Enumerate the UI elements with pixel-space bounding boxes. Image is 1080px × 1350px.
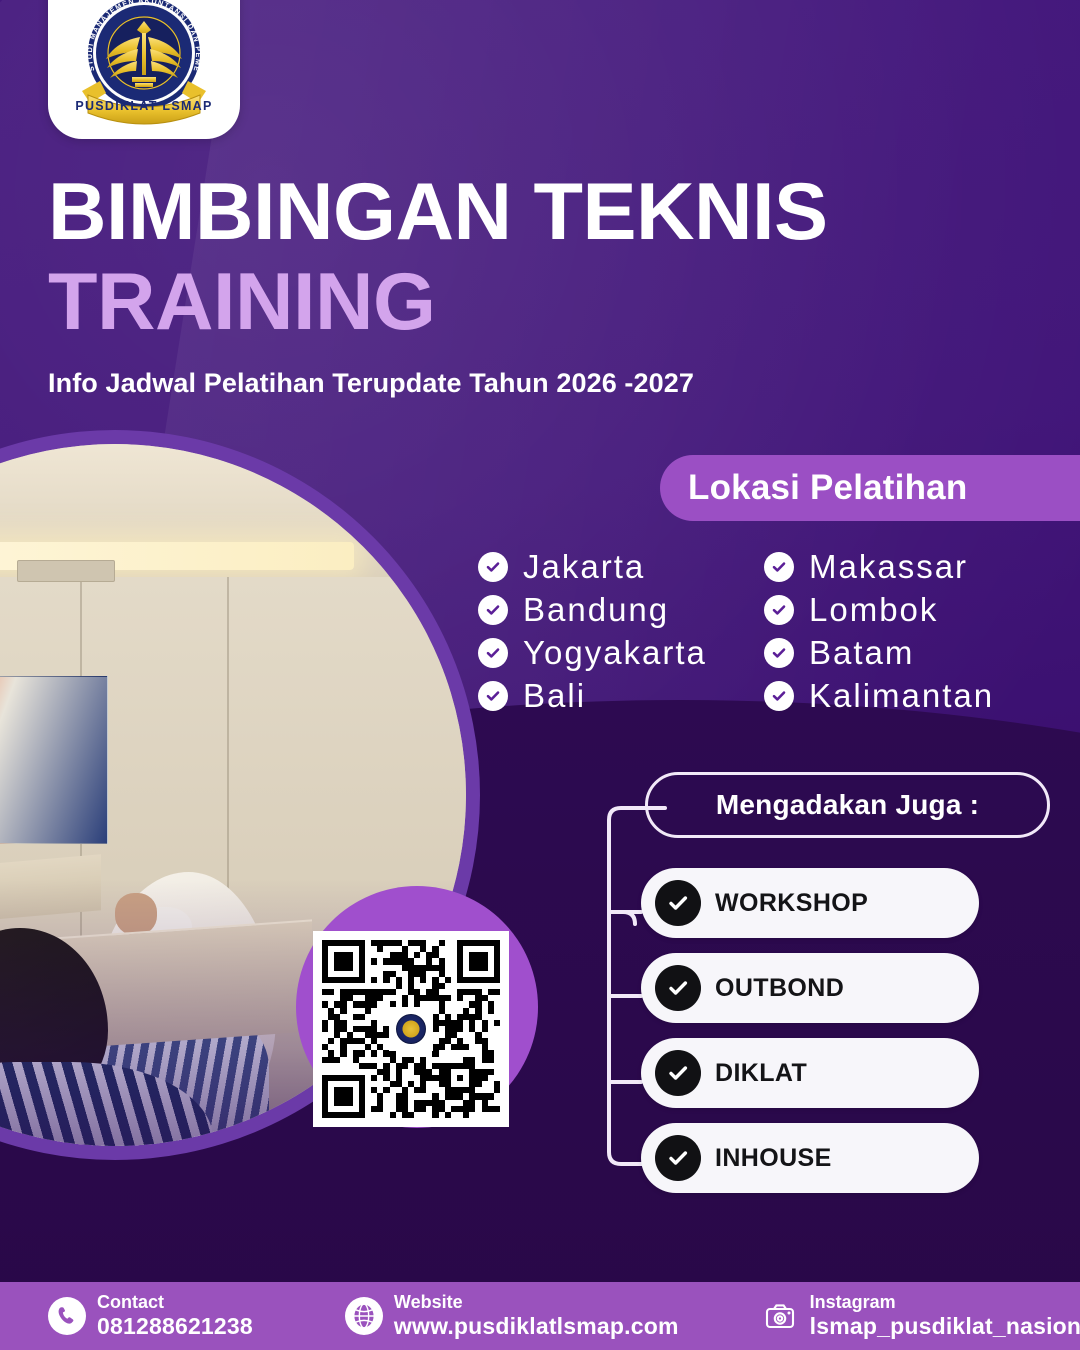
footer-contact-value: 081288621238 bbox=[97, 1313, 253, 1340]
footer-instagram-label: Instagram bbox=[810, 1292, 1080, 1313]
city-label: Lombok bbox=[809, 591, 938, 630]
city-label: Makassar bbox=[809, 548, 968, 587]
check-circle-icon bbox=[764, 552, 794, 582]
footer-contact-text: Contact 081288621238 bbox=[97, 1292, 253, 1340]
city-label: Bali bbox=[523, 677, 586, 716]
headline-primary: BIMBINGAN TEKNIS bbox=[48, 172, 988, 253]
footer-website-value: www.pusdiklatlsmap.com bbox=[394, 1313, 679, 1340]
service-pill[interactable]: INHOUSE bbox=[641, 1123, 979, 1193]
footer-contact[interactable]: Contact 081288621238 bbox=[48, 1292, 253, 1340]
city-label: Bandung bbox=[523, 591, 669, 630]
footer-contact-bar: Contact 081288621238 Website bbox=[0, 1282, 1080, 1350]
city-item: Bandung bbox=[478, 591, 750, 630]
qr-code[interactable] bbox=[313, 931, 509, 1127]
headline-block: BIMBINGAN TEKNIS TRAINING Info Jadwal Pe… bbox=[48, 172, 988, 399]
check-circle-icon bbox=[764, 681, 794, 711]
service-pill-label: WORKSHOP bbox=[715, 889, 868, 918]
city-item: Makassar bbox=[764, 548, 1064, 587]
lokasi-city-lists: JakartaBandungYogyakartaBali MakassarLom… bbox=[478, 548, 1078, 720]
check-circle-icon bbox=[478, 638, 508, 668]
check-circle-icon bbox=[478, 681, 508, 711]
check-circle-icon bbox=[655, 1135, 701, 1181]
city-column-right: MakassarLombokBatamKalimantan bbox=[764, 548, 1064, 720]
city-item: Batam bbox=[764, 634, 1064, 673]
footer-instagram-value: lsmap_pusdiklat_nasional bbox=[810, 1313, 1080, 1340]
phone-icon bbox=[48, 1297, 86, 1335]
headline-tagline: Info Jadwal Pelatihan Terupdate Tahun 20… bbox=[48, 368, 988, 399]
city-label: Kalimantan bbox=[809, 677, 994, 716]
footer-instagram-text: Instagram lsmap_pusdiklat_nasional bbox=[810, 1292, 1080, 1340]
footer-website-text: Website www.pusdiklatlsmap.com bbox=[394, 1292, 679, 1340]
service-pill[interactable]: DIKLAT bbox=[641, 1038, 979, 1108]
service-pill[interactable]: OUTBOND bbox=[641, 953, 979, 1023]
mengadakan-juga-title: Mengadakan Juga : bbox=[716, 789, 979, 821]
city-column-left: JakartaBandungYogyakartaBali bbox=[478, 548, 750, 720]
footer-instagram[interactable]: Instagram lsmap_pusdiklat_nasional bbox=[761, 1292, 1080, 1340]
check-circle-icon bbox=[478, 595, 508, 625]
mengadakan-juga-header: Mengadakan Juga : bbox=[645, 772, 1050, 838]
brand-logo-card: LEMBAGA STUDI MANAJEMEN AKUNTANSI DAN PE… bbox=[48, 0, 240, 139]
check-circle-icon bbox=[655, 965, 701, 1011]
check-circle-icon bbox=[655, 1050, 701, 1096]
footer-website-label: Website bbox=[394, 1292, 679, 1313]
check-circle-icon bbox=[655, 880, 701, 926]
camera-icon bbox=[761, 1297, 799, 1335]
lokasi-pelatihan-title: Lokasi Pelatihan bbox=[688, 468, 967, 508]
footer-contact-label: Contact bbox=[97, 1292, 253, 1313]
check-circle-icon bbox=[764, 595, 794, 625]
globe-icon bbox=[345, 1297, 383, 1335]
service-pill-label: INHOUSE bbox=[715, 1144, 832, 1173]
mengadakan-juga-list: WORKSHOPOUTBONDDIKLATINHOUSE bbox=[641, 868, 981, 1208]
headline-secondary: TRAINING bbox=[48, 259, 988, 346]
footer-website[interactable]: Website www.pusdiklatlsmap.com bbox=[345, 1292, 679, 1340]
check-circle-icon bbox=[764, 638, 794, 668]
city-label: Batam bbox=[809, 634, 914, 673]
service-pill-label: DIKLAT bbox=[715, 1059, 807, 1088]
city-label: Yogyakarta bbox=[523, 634, 707, 673]
poster-canvas: LEMBAGA STUDI MANAJEMEN AKUNTANSI DAN PE… bbox=[0, 0, 1080, 1350]
city-item: Kalimantan bbox=[764, 677, 1064, 716]
service-pill-label: OUTBOND bbox=[715, 974, 844, 1003]
lokasi-pelatihan-banner: Lokasi Pelatihan bbox=[660, 455, 1080, 521]
city-item: Yogyakarta bbox=[478, 634, 750, 673]
city-item: Lombok bbox=[764, 591, 1064, 630]
city-item: Bali bbox=[478, 677, 750, 716]
pusdiklat-lsmap-logo-icon: LEMBAGA STUDI MANAJEMEN AKUNTANSI DAN PE… bbox=[68, 0, 220, 131]
service-pill[interactable]: WORKSHOP bbox=[641, 868, 979, 938]
svg-text:PUSDIKLAT LSMAP: PUSDIKLAT LSMAP bbox=[75, 99, 212, 113]
qr-center-logo-icon bbox=[389, 1007, 433, 1051]
check-circle-icon bbox=[478, 552, 508, 582]
city-label: Jakarta bbox=[523, 548, 645, 587]
city-item: Jakarta bbox=[478, 548, 750, 587]
